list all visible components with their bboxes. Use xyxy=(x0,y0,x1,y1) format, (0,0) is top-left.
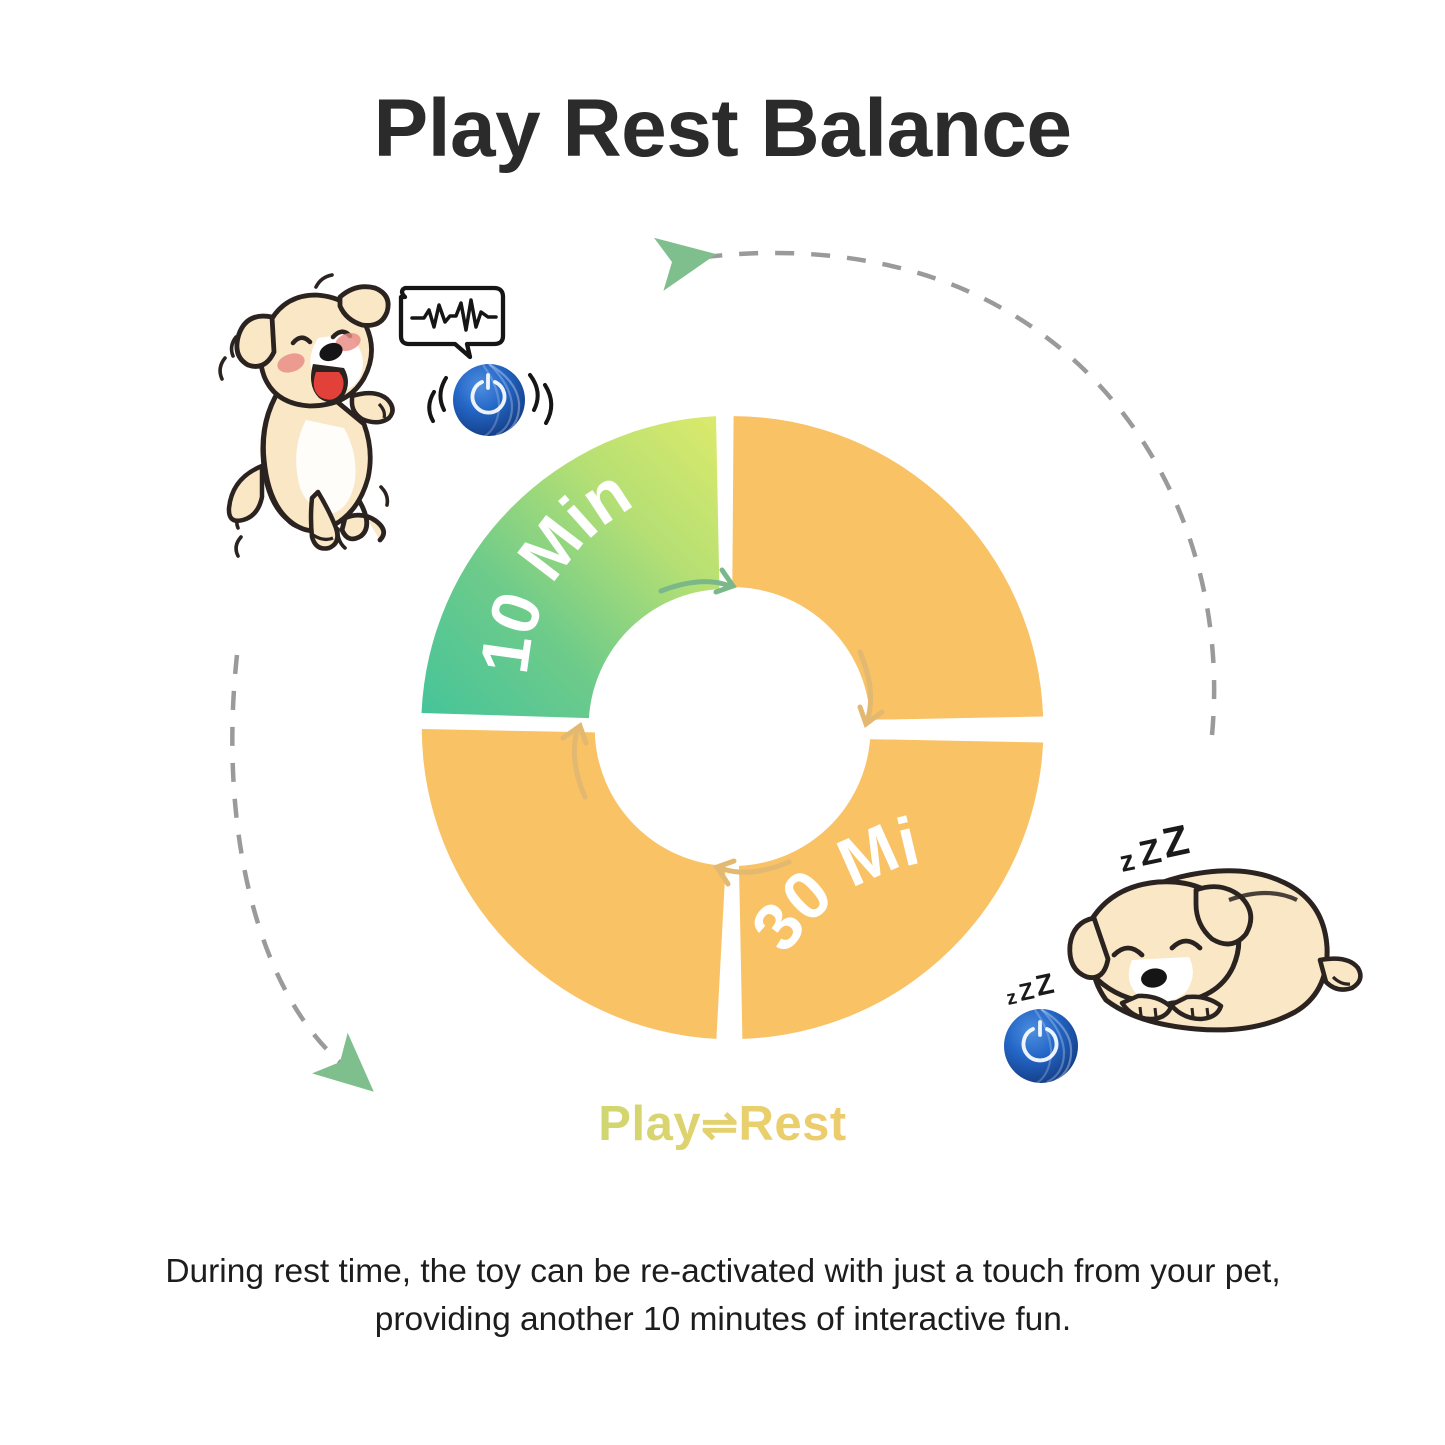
blue-smart-ball-resting[interactable] xyxy=(1004,1009,1078,1083)
footer-caption: During rest time, the toy can be re-acti… xyxy=(118,1248,1328,1343)
blue-smart-ball[interactable] xyxy=(429,364,551,436)
svg-text:z: z xyxy=(1117,845,1138,879)
sleep-zzz-ball: z Z Z xyxy=(1004,968,1056,1010)
donut-segment-rest-1[interactable] xyxy=(732,416,1043,720)
rest-label: Rest xyxy=(738,1097,846,1151)
sleep-zzz-dog: z Z Z xyxy=(1117,815,1193,878)
playful-puppy xyxy=(220,275,392,556)
sleeping-puppy xyxy=(1070,871,1361,1030)
infographic-canvas: Play Rest Balance xyxy=(0,0,1445,1445)
donut-segment-rest-3[interactable] xyxy=(422,729,726,1039)
swap-arrows-icon: ⇌ xyxy=(701,1101,738,1150)
play-rest-cycle-label: Play⇌Rest xyxy=(0,1096,1445,1152)
svg-text:Z: Z xyxy=(1017,977,1037,1006)
svg-text:Z: Z xyxy=(1033,968,1057,1003)
illustration-svg: 10 Min 30 Min xyxy=(0,0,1445,1445)
play-to-rest-arrow xyxy=(232,655,340,1062)
play-label: Play xyxy=(598,1097,701,1151)
svg-text:Z: Z xyxy=(1158,815,1193,866)
donut-chart: 10 Min 30 Min xyxy=(0,0,1043,1039)
svg-text:Z: Z xyxy=(1136,831,1165,874)
svg-text:z: z xyxy=(1004,986,1018,1010)
heartbeat-speech-bubble xyxy=(401,288,503,357)
